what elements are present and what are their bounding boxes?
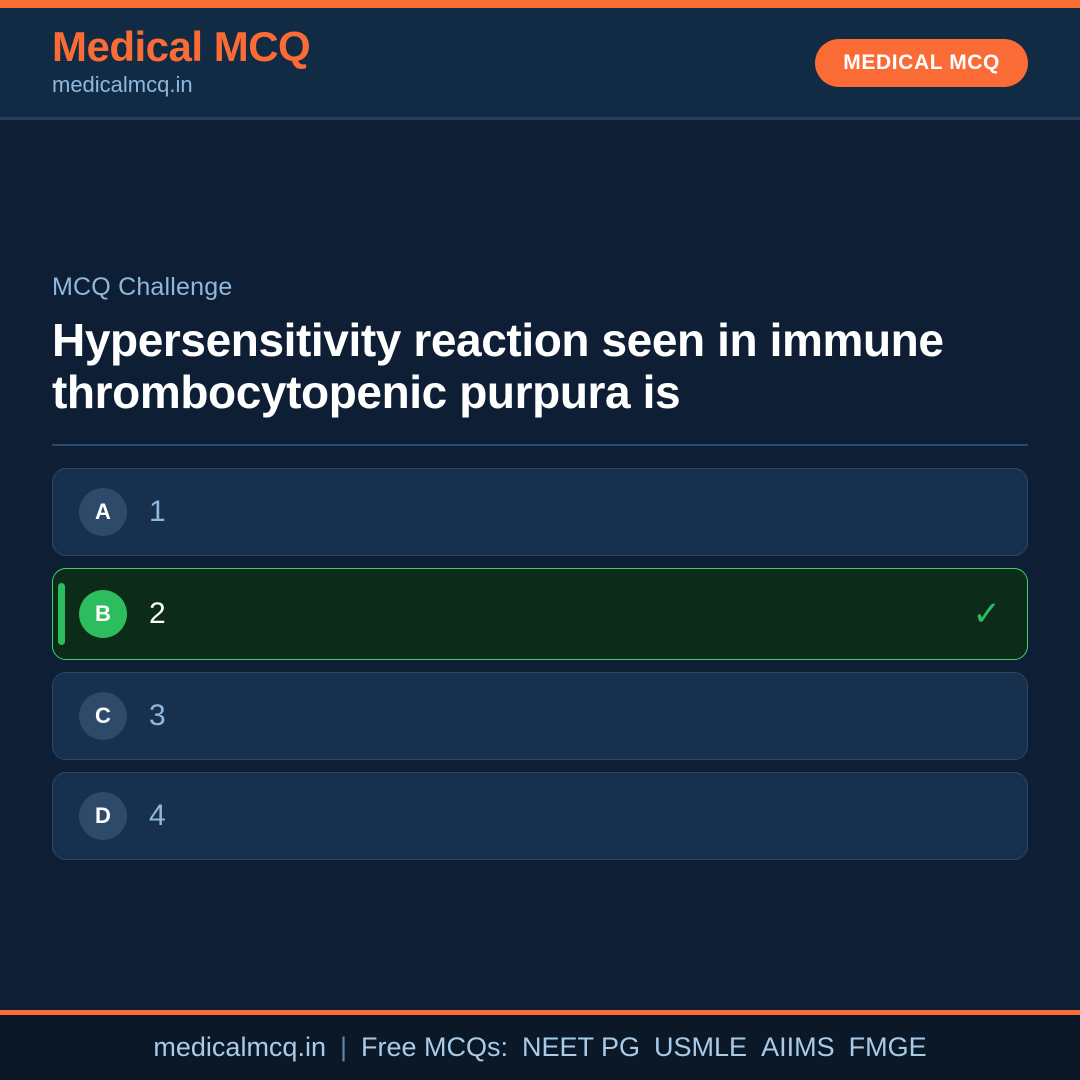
page-header: Medical MCQ medicalmcq.in MEDICAL MCQ (0, 8, 1080, 120)
brand-title: Medical MCQ (52, 25, 310, 70)
top-accent-bar (0, 0, 1080, 8)
footer-content: medicalmcq.in | Free MCQs: NEET PG USMLE… (153, 1032, 926, 1063)
option-letter-badge: C (79, 692, 127, 740)
footer-separator: | (340, 1032, 347, 1063)
option-label: 1 (149, 495, 1001, 529)
option-row-c[interactable]: C 3 (52, 672, 1028, 760)
selected-accent-bar (58, 583, 65, 645)
footer-label: Free MCQs: (361, 1032, 508, 1063)
footer-tag-aiims: AIIMS (761, 1032, 835, 1063)
option-row-a[interactable]: A 1 (52, 468, 1028, 556)
main-content: MCQ Challenge Hypersensitivity reaction … (0, 123, 1080, 1010)
option-row-d[interactable]: D 4 (52, 772, 1028, 860)
option-letter-badge: B (79, 590, 127, 638)
footer-tag-usmle: USMLE (654, 1032, 747, 1063)
options-list: A 1 B 2 ✓ C 3 D 4 (52, 468, 1028, 860)
option-label: 2 (149, 597, 973, 631)
page-footer: medicalmcq.in | Free MCQs: NEET PG USMLE… (0, 1010, 1080, 1080)
question-text: Hypersensitivity reaction seen in immune… (52, 314, 1012, 419)
brand: Medical MCQ medicalmcq.in (52, 25, 310, 100)
brand-subtitle: medicalmcq.in (52, 71, 310, 100)
footer-tag-fmge: FMGE (849, 1032, 927, 1063)
question-divider (52, 444, 1028, 446)
footer-tag-neetpg: NEET PG (522, 1032, 640, 1063)
header-badge: MEDICAL MCQ (815, 39, 1028, 87)
footer-tags: NEET PG USMLE AIIMS FMGE (522, 1032, 927, 1063)
kicker-label: MCQ Challenge (52, 273, 1028, 302)
option-label: 4 (149, 799, 1001, 833)
option-letter-badge: D (79, 792, 127, 840)
option-label: 3 (149, 699, 1001, 733)
option-row-b[interactable]: B 2 ✓ (52, 568, 1028, 660)
check-icon: ✓ (973, 597, 1002, 631)
option-letter-badge: A (79, 488, 127, 536)
footer-site: medicalmcq.in (153, 1032, 326, 1063)
